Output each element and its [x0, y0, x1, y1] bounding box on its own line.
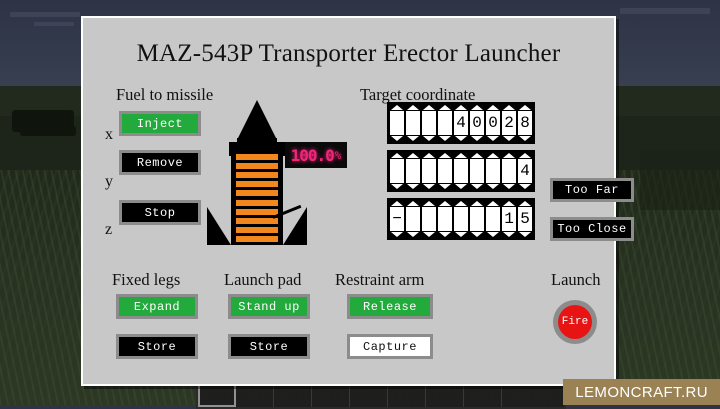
coordinate-cell-z-5[interactable] — [470, 201, 484, 237]
chevron-down-icon[interactable] — [407, 232, 419, 237]
chevron-up-icon[interactable] — [471, 201, 483, 206]
stand-up-button[interactable]: Stand up — [228, 294, 310, 319]
hotbar-slot[interactable] — [350, 383, 388, 407]
coordinate-digit — [470, 207, 484, 231]
stop-button[interactable]: Stop — [119, 200, 201, 225]
section-label-launch-pad: Launch pad — [224, 270, 301, 290]
fire-button-label: Fire — [558, 305, 592, 339]
chevron-down-icon[interactable] — [471, 136, 483, 141]
coordinate-digit: 8 — [518, 111, 532, 135]
coordinate-digit — [470, 159, 484, 183]
coordinate-row-x[interactable]: 40028 — [387, 102, 535, 144]
site-watermark: LEMONCRAFT.RU — [563, 379, 720, 405]
coordinate-cell-y-7[interactable] — [502, 153, 516, 189]
coordinate-digit — [486, 207, 500, 231]
chevron-down-icon[interactable] — [455, 232, 467, 237]
chevron-up-icon[interactable] — [487, 201, 499, 206]
chevron-down-icon[interactable] — [519, 184, 531, 189]
cloud — [34, 22, 74, 26]
coordinate-digit — [438, 159, 452, 183]
chevron-up-icon[interactable] — [407, 105, 419, 110]
coordinate-cell-y-2[interactable] — [422, 153, 436, 189]
coordinate-digit — [454, 207, 468, 231]
chevron-up-icon[interactable] — [455, 105, 467, 110]
release-button[interactable]: Release — [347, 294, 433, 319]
chevron-up-icon[interactable] — [439, 201, 451, 206]
coordinate-cell-z-0[interactable]: − — [390, 201, 404, 237]
hotbar-slot[interactable] — [274, 383, 312, 407]
hotbar-slot[interactable] — [502, 383, 540, 407]
coordinate-digit: 0 — [470, 111, 484, 135]
rocket-graphic — [207, 100, 307, 245]
capture-button[interactable]: Capture — [347, 334, 433, 359]
chevron-down-icon[interactable] — [519, 232, 531, 237]
rocket-fin-left — [207, 207, 231, 245]
coordinate-row-y[interactable]: 4 — [387, 150, 535, 192]
coordinate-digit: 5 — [518, 207, 532, 231]
cloud — [10, 12, 80, 17]
chevron-down-icon[interactable] — [391, 232, 403, 237]
terrain-rock — [20, 126, 76, 136]
coordinate-digit — [422, 207, 436, 231]
coordinate-cell-y-8[interactable]: 4 — [518, 153, 532, 189]
expand-button[interactable]: Expand — [116, 294, 198, 319]
fire-button[interactable]: Fire — [553, 300, 597, 344]
chevron-down-icon[interactable] — [423, 184, 435, 189]
rocket-fuel-bar — [236, 181, 278, 187]
chevron-down-icon[interactable] — [439, 232, 451, 237]
hotbar-slot[interactable] — [464, 383, 502, 407]
hotbar-slot[interactable] — [388, 383, 426, 407]
inject-button[interactable]: Inject — [119, 111, 201, 136]
chevron-up-icon[interactable] — [519, 105, 531, 110]
chevron-down-icon[interactable] — [471, 184, 483, 189]
chevron-down-icon[interactable] — [439, 184, 451, 189]
rocket-fuel-bar — [236, 190, 278, 196]
axis-label-x: x — [105, 126, 113, 144]
cloud — [620, 8, 710, 14]
chevron-up-icon[interactable] — [519, 201, 531, 206]
chevron-up-icon[interactable] — [471, 105, 483, 110]
rocket-fuel-bar — [236, 154, 278, 160]
coordinate-cell-x-8[interactable]: 8 — [518, 105, 532, 141]
chevron-down-icon[interactable] — [455, 184, 467, 189]
coordinate-digit: 4 — [454, 111, 468, 135]
rocket-fuel-bar — [236, 172, 278, 178]
chevron-down-icon[interactable] — [503, 184, 515, 189]
rocket-nose-cone — [237, 100, 277, 140]
coordinate-cell-y-3[interactable] — [438, 153, 452, 189]
coordinate-digit: 0 — [486, 111, 500, 135]
coordinate-cell-y-5[interactable] — [470, 153, 484, 189]
chevron-down-icon[interactable] — [487, 184, 499, 189]
launcher-gui-panel: MAZ-543P Transporter Erector Launcher Fu… — [81, 16, 616, 386]
coordinate-digit — [406, 159, 420, 183]
coordinate-digit — [390, 159, 404, 183]
section-label-fuel: Fuel to missile — [116, 85, 213, 105]
chevron-up-icon[interactable] — [455, 201, 467, 206]
coordinate-cell-x-2[interactable] — [422, 105, 436, 141]
rocket-fuel-bar — [236, 209, 278, 215]
coordinate-digit — [454, 159, 468, 183]
coordinate-digit — [438, 111, 452, 135]
chevron-up-icon[interactable] — [423, 105, 435, 110]
chevron-down-icon[interactable] — [391, 136, 403, 141]
chevron-down-icon[interactable] — [391, 184, 403, 189]
coordinate-digit: 4 — [518, 159, 532, 183]
chevron-up-icon[interactable] — [487, 105, 499, 110]
coordinate-cell-z-2[interactable] — [422, 201, 436, 237]
section-label-restraint-arm: Restraint arm — [335, 270, 424, 290]
rocket-fuel-bars — [236, 154, 278, 242]
coordinate-cell-x-1[interactable] — [406, 105, 420, 141]
chevron-up-icon[interactable] — [423, 201, 435, 206]
chevron-up-icon[interactable] — [391, 153, 403, 158]
coordinate-cell-z-7[interactable]: 1 — [502, 201, 516, 237]
coordinate-cell-z-4[interactable] — [454, 201, 468, 237]
page-title: MAZ-543P Transporter Erector Launcher — [83, 40, 614, 68]
coordinate-digit — [486, 159, 500, 183]
chevron-down-icon[interactable] — [519, 136, 531, 141]
chevron-up-icon[interactable] — [487, 153, 499, 158]
coordinate-digit — [406, 111, 420, 135]
fuel-percent-display: 100.0 % — [285, 142, 347, 168]
chevron-down-icon[interactable] — [503, 232, 515, 237]
fuel-percent-unit: % — [335, 149, 342, 162]
rocket-fuel-bar — [236, 218, 278, 224]
chevron-down-icon[interactable] — [423, 232, 435, 237]
chevron-up-icon[interactable] — [439, 105, 451, 110]
hotbar-slot[interactable] — [312, 383, 350, 407]
coordinate-cell-z-6[interactable] — [486, 201, 500, 237]
coordinate-digit — [502, 159, 516, 183]
coordinate-cell-x-6[interactable]: 0 — [486, 105, 500, 141]
coordinate-cell-y-0[interactable] — [390, 153, 404, 189]
coordinate-digit — [422, 159, 436, 183]
rocket-fuel-bar — [236, 200, 278, 206]
coordinate-cell-y-4[interactable] — [454, 153, 468, 189]
terrain-block — [640, 150, 720, 210]
chevron-down-icon[interactable] — [407, 184, 419, 189]
coordinate-row-z[interactable]: −15 — [387, 198, 535, 240]
axis-label-y: y — [105, 173, 113, 191]
watermark-text: LEMONCRAFT.RU — [575, 384, 708, 401]
coordinate-cell-x-0[interactable] — [390, 105, 404, 141]
chevron-up-icon[interactable] — [391, 105, 403, 110]
chevron-down-icon[interactable] — [487, 232, 499, 237]
chevron-up-icon[interactable] — [455, 153, 467, 158]
chevron-down-icon[interactable] — [407, 136, 419, 141]
coordinate-digit: 1 — [502, 207, 516, 231]
coordinate-digit — [406, 207, 420, 231]
chevron-up-icon[interactable] — [503, 201, 515, 206]
too-far-button[interactable]: Too Far — [550, 178, 634, 202]
coordinate-cell-y-1[interactable] — [406, 153, 420, 189]
remove-button[interactable]: Remove — [119, 150, 201, 175]
coordinate-cell-x-4[interactable]: 4 — [454, 105, 468, 141]
hotbar-slot[interactable] — [426, 383, 464, 407]
chevron-down-icon[interactable] — [455, 136, 467, 141]
chevron-up-icon[interactable] — [519, 153, 531, 158]
chevron-down-icon[interactable] — [471, 232, 483, 237]
coordinate-digit: − — [390, 207, 404, 231]
legs-store-button[interactable]: Store — [116, 334, 198, 359]
chevron-down-icon[interactable] — [487, 136, 499, 141]
coordinate-digit — [390, 111, 404, 135]
rocket-fuel-bar — [236, 236, 278, 242]
chevron-up-icon[interactable] — [439, 153, 451, 158]
fuel-percent-value: 100.0 — [291, 146, 334, 165]
hotbar-slot[interactable] — [236, 383, 274, 407]
coordinate-cell-z-8[interactable]: 5 — [518, 201, 532, 237]
coordinate-cell-x-5[interactable]: 0 — [470, 105, 484, 141]
axis-label-z: z — [105, 221, 112, 239]
hotbar-slot[interactable] — [198, 383, 236, 407]
chevron-up-icon[interactable] — [391, 201, 403, 206]
coordinate-cell-z-3[interactable] — [438, 201, 452, 237]
chevron-up-icon[interactable] — [503, 153, 515, 158]
section-label-fixed-legs: Fixed legs — [112, 270, 180, 290]
coordinate-cell-z-1[interactable] — [406, 201, 420, 237]
coordinate-cell-x-7[interactable]: 2 — [502, 105, 516, 141]
rocket-fuel-bar — [236, 227, 278, 233]
chevron-up-icon[interactable] — [407, 201, 419, 206]
chevron-up-icon[interactable] — [423, 153, 435, 158]
coordinate-cell-y-6[interactable] — [486, 153, 500, 189]
chevron-down-icon[interactable] — [439, 136, 451, 141]
chevron-up-icon[interactable] — [407, 153, 419, 158]
coordinate-digit: 2 — [502, 111, 516, 135]
chevron-up-icon[interactable] — [503, 105, 515, 110]
pad-store-button[interactable]: Store — [228, 334, 310, 359]
coordinate-digit — [422, 111, 436, 135]
chevron-down-icon[interactable] — [503, 136, 515, 141]
rocket-fuel-bar — [236, 163, 278, 169]
chevron-down-icon[interactable] — [423, 136, 435, 141]
coordinate-digit — [438, 207, 452, 231]
chevron-up-icon[interactable] — [471, 153, 483, 158]
section-label-launch: Launch — [551, 270, 600, 290]
too-close-button[interactable]: Too Close — [550, 217, 634, 241]
coordinate-cell-x-3[interactable] — [438, 105, 452, 141]
